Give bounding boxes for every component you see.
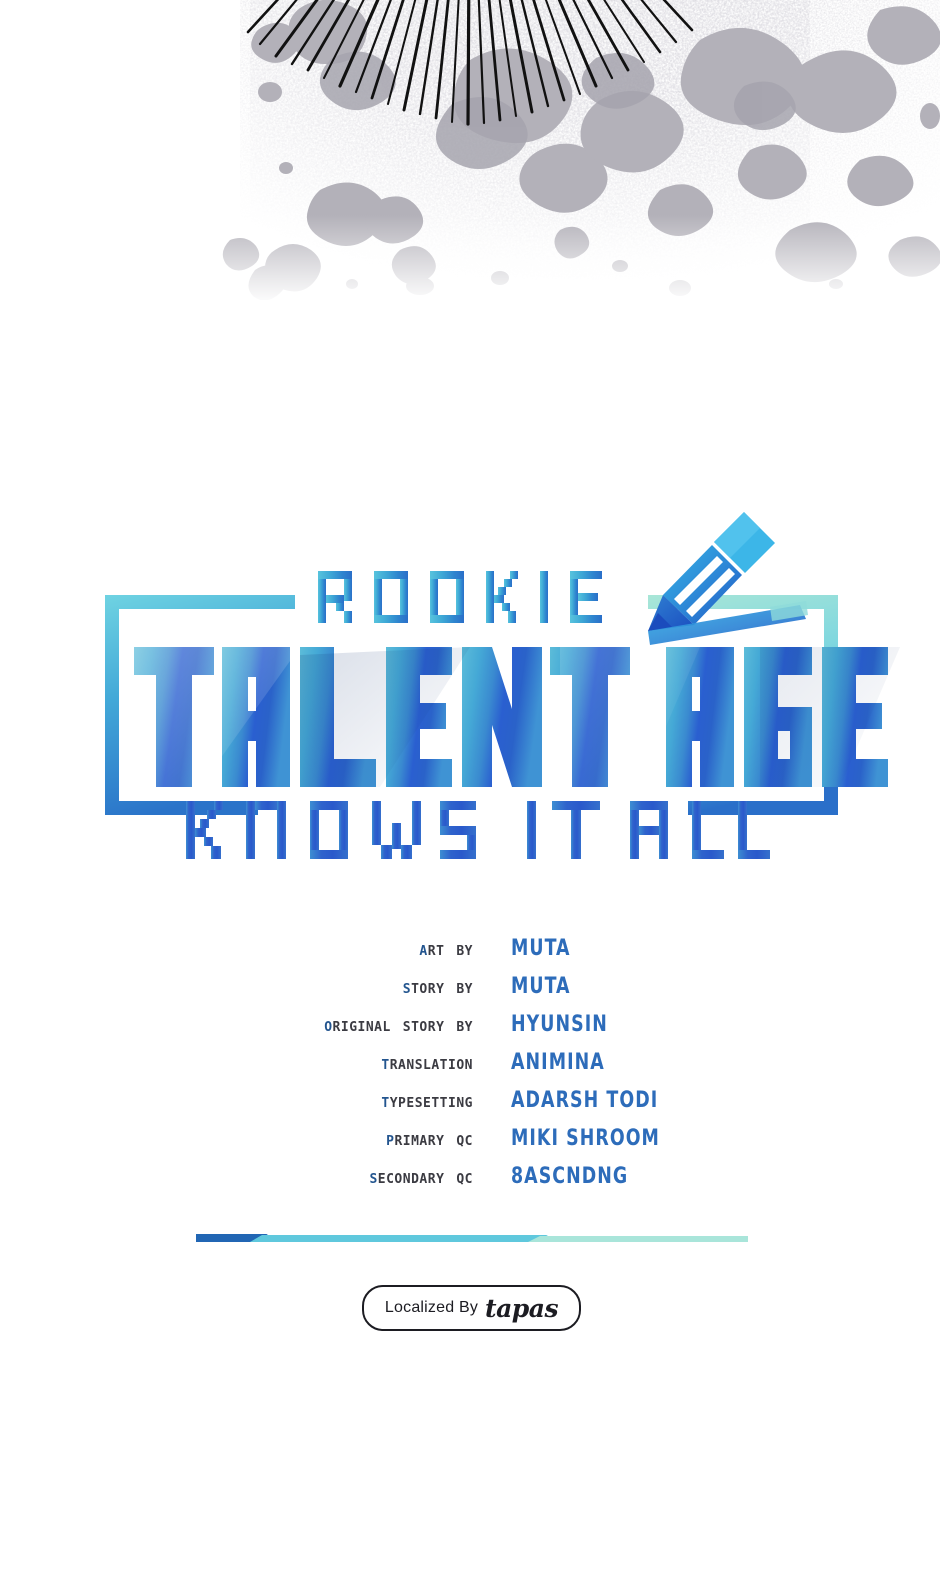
credits-list: Art by MUTA Story by MUTA Original Story…: [0, 930, 940, 1196]
credit-value: ADARSH TODI: [511, 1082, 658, 1120]
divider-segment-mid: [250, 1235, 548, 1242]
credit-row: Secondary QC 8ASCNDNG: [0, 1158, 940, 1196]
credit-label: Secondary QC: [0, 1158, 473, 1196]
credit-row: Translation ANIMINA: [0, 1044, 940, 1082]
pencil-icon: [648, 512, 808, 645]
credit-value: HYUNSIN: [511, 1006, 608, 1044]
logo-line-talent-agent: [134, 647, 888, 787]
ink-splatter-art: [0, 0, 940, 300]
credit-value: MIKI SHROOM: [511, 1120, 660, 1158]
credit-label: Typesetting: [0, 1082, 473, 1120]
credit-row: Art by MUTA: [0, 930, 940, 968]
credit-row: Original Story by HYUNSIN: [0, 1006, 940, 1044]
localized-by-tapas-badge[interactable]: Localized By tapas: [362, 1285, 581, 1331]
divider-segment-light: [528, 1236, 748, 1242]
credit-row: Primary QC MIKI SHROOM: [0, 1120, 940, 1158]
credit-value: MUTA: [511, 930, 571, 968]
series-logo: [0, 495, 940, 875]
logo-line-rookie: [318, 571, 602, 623]
gradient-divider-bar: [0, 1232, 940, 1244]
credit-row: Story by MUTA: [0, 968, 940, 1006]
localized-by-label: Localized By: [385, 1299, 478, 1317]
comic-title-page: Art by MUTA Story by MUTA Original Story…: [0, 0, 940, 1584]
credit-row: Typesetting ADARSH TODI: [0, 1082, 940, 1120]
credit-label: Story by: [0, 968, 473, 1006]
credit-label: Primary QC: [0, 1120, 473, 1158]
credit-label: Art by: [0, 930, 473, 968]
credit-value: MUTA: [511, 968, 571, 1006]
tapas-wordmark: tapas: [485, 1294, 558, 1323]
credit-label: Original Story by: [0, 1006, 473, 1044]
credit-value: 8ASCNDNG: [511, 1158, 628, 1196]
credit-value: ANIMINA: [511, 1044, 605, 1082]
credit-label: Translation: [0, 1044, 473, 1082]
logo-line-knows-it-all: [186, 801, 770, 859]
